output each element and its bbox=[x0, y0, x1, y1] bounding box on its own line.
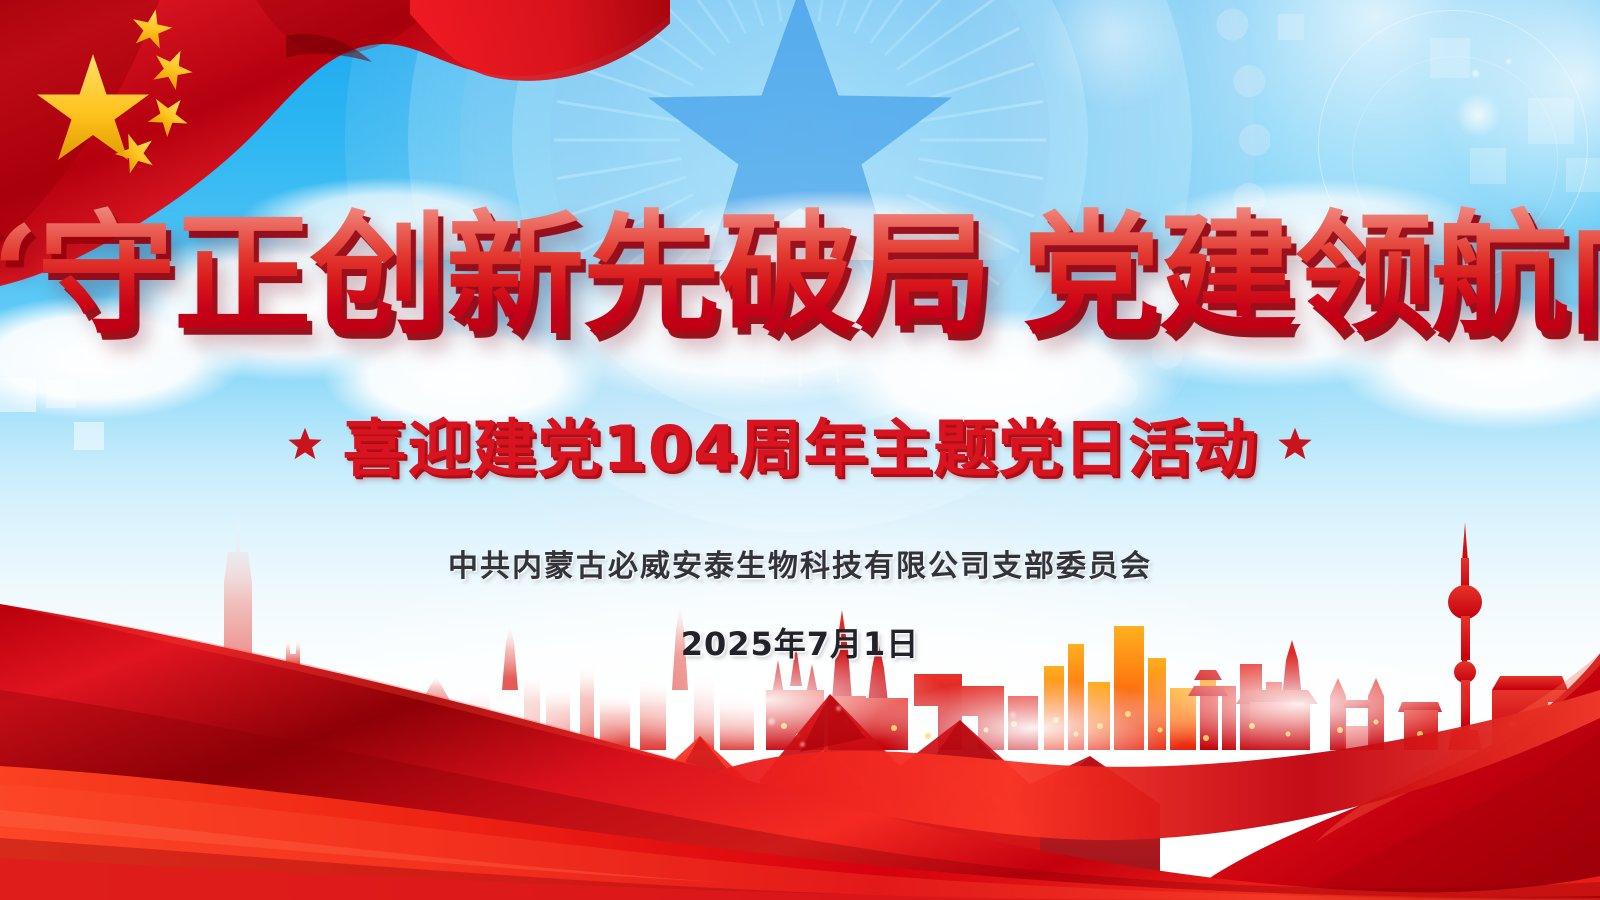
main-title: “守正创新先破局党建领航向阳生” bbox=[0, 206, 1600, 347]
main-title-row: “守正创新先破局党建领航向阳生” bbox=[0, 206, 1600, 347]
star-icon bbox=[1278, 426, 1312, 460]
banner-text-content: “守正创新先破局党建领航向阳生” 喜迎建党104周年主题党日活动 中共内蒙古必威… bbox=[0, 0, 1600, 900]
event-date: 2025年7月1日 bbox=[0, 619, 1600, 665]
subtitle: 喜迎建党104周年主题党日活动 bbox=[342, 398, 1257, 488]
subtitle-row: 喜迎建党104周年主题党日活动 bbox=[0, 398, 1600, 488]
main-title-part-1: 守正创新先破局 bbox=[37, 199, 991, 353]
main-title-part-2: 党建领航向阳生 bbox=[1022, 199, 1600, 353]
banner-poster: “守正创新先破局党建领航向阳生” 喜迎建党104周年主题党日活动 中共内蒙古必威… bbox=[0, 0, 1600, 900]
organization-name: 中共内蒙古必威安泰生物科技有限公司支部委员会 bbox=[0, 541, 1600, 585]
star-icon bbox=[288, 426, 322, 460]
open-quote: “ bbox=[0, 197, 37, 353]
